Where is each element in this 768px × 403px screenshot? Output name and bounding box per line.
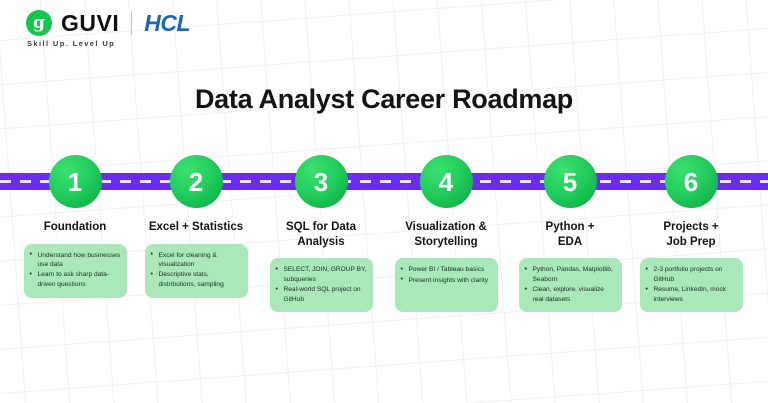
step-bullet: Real-world SQL project on GitHub <box>275 285 367 304</box>
step-detail-card: Understand how businesses use dataLearn … <box>24 244 127 298</box>
step-bullet: Excel for cleaning & visualization <box>150 251 242 270</box>
step-bullet: Python, Pandas, Matplotlib, Seaborn <box>524 265 616 284</box>
step-bullet: 2-3 portfolio projects on GitHub <box>645 265 737 284</box>
roadmap-step-1: 1FoundationUnderstand how businesses use… <box>13 155 138 298</box>
step-number-badge: 5 <box>544 155 597 208</box>
step-number-badge: 1 <box>49 155 102 208</box>
step-detail-card: Python, Pandas, Matplotlib, SeabornClean… <box>519 258 622 312</box>
step-bullet: Present insights with clarity <box>400 276 492 285</box>
step-label: Projects + Job Prep <box>663 220 718 249</box>
step-bullet-list: Python, Pandas, Matplotlib, SeabornClean… <box>524 265 616 303</box>
step-detail-card: Power BI / Tableau basicsPresent insight… <box>395 258 498 312</box>
step-number-badge: 4 <box>420 155 473 208</box>
step-bullet-list: Power BI / Tableau basicsPresent insight… <box>400 265 492 285</box>
roadmap-step-4: 4Visualization & StorytellingPower BI / … <box>384 155 509 312</box>
roadmap-step-6: 6Projects + Job Prep2-3 portfolio projec… <box>629 155 754 312</box>
step-detail-card: SELECT, JOIN, GROUP BY, subqueriesReal-w… <box>270 258 373 312</box>
step-label: SQL for Data Analysis <box>286 220 356 249</box>
step-label: Python + EDA <box>546 220 595 249</box>
step-number-badge: 2 <box>170 155 223 208</box>
step-bullet: Resume, LinkedIn, mock interviews <box>645 285 737 304</box>
step-bullet: Descriptive stats, distributions, sampli… <box>150 270 242 289</box>
step-number-badge: 3 <box>295 155 348 208</box>
roadmap-step-2: 2Excel + StatisticsExcel for cleaning & … <box>134 155 259 298</box>
roadmap-step-5: 5Python + EDAPython, Pandas, Matplotlib,… <box>508 155 633 312</box>
roadmap-step-3: 3SQL for Data AnalysisSELECT, JOIN, GROU… <box>259 155 384 312</box>
roadmap-infographic: g GUVI HCL Skill Up. Level Up Data Analy… <box>0 0 768 403</box>
step-bullet: SELECT, JOIN, GROUP BY, subqueries <box>275 265 367 284</box>
step-number-badge: 6 <box>665 155 718 208</box>
step-bullet-list: 2-3 portfolio projects on GitHubResume, … <box>645 265 737 303</box>
step-bullet: Clean, explore, visualize real datasets <box>524 285 616 304</box>
step-bullet-list: Understand how businesses use dataLearn … <box>29 251 121 289</box>
step-bullet: Power BI / Tableau basics <box>400 265 492 274</box>
step-bullet-list: SELECT, JOIN, GROUP BY, subqueriesReal-w… <box>275 265 367 303</box>
step-bullet-list: Excel for cleaning & visualizationDescri… <box>150 251 242 289</box>
step-detail-card: 2-3 portfolio projects on GitHubResume, … <box>640 258 743 312</box>
step-label: Excel + Statistics <box>149 220 243 235</box>
step-label: Foundation <box>44 220 107 235</box>
step-detail-card: Excel for cleaning & visualizationDescri… <box>145 244 248 298</box>
step-bullet: Learn to ask sharp data-driven questions <box>29 270 121 289</box>
roadmap-steps: 1FoundationUnderstand how businesses use… <box>0 0 768 403</box>
step-label: Visualization & Storytelling <box>405 220 487 249</box>
step-bullet: Understand how businesses use data <box>29 251 121 270</box>
